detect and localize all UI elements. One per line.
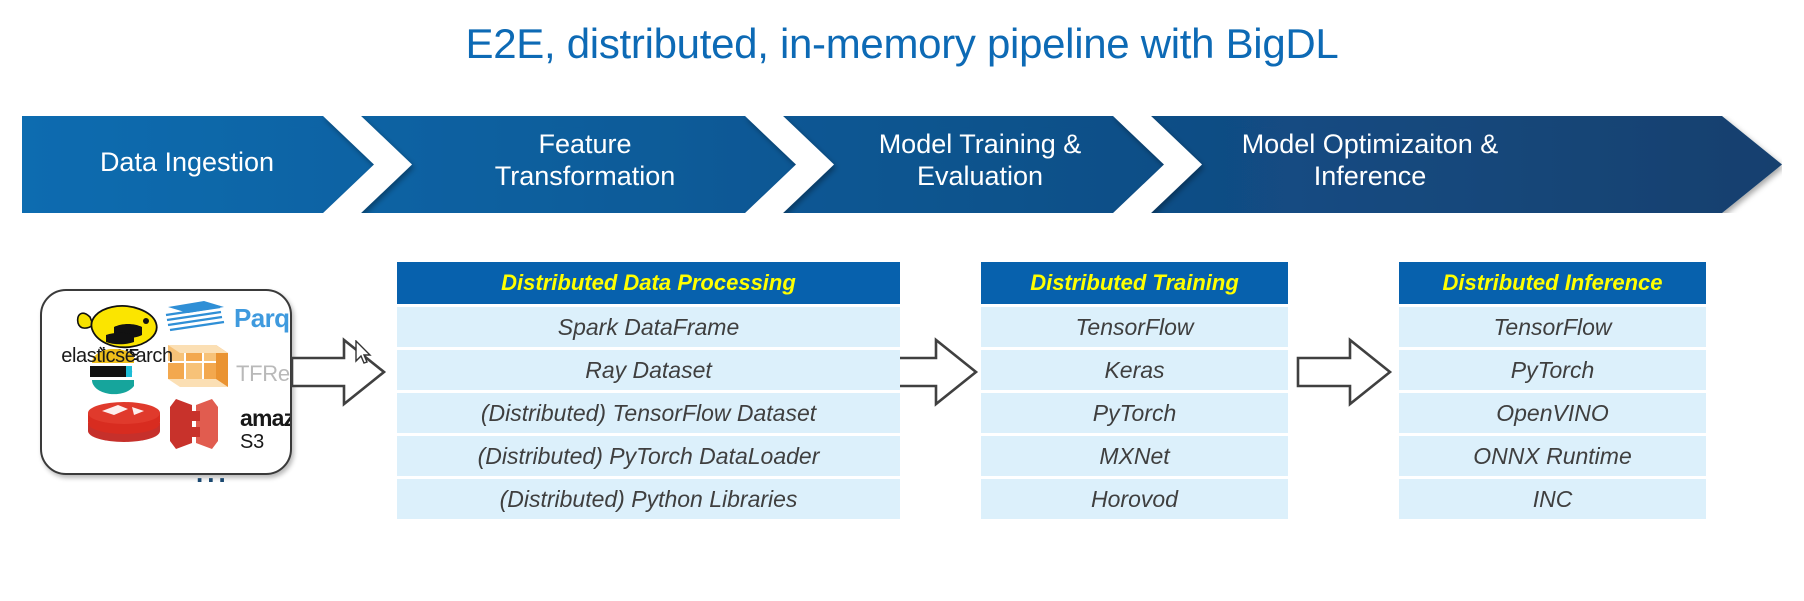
table-row[interactable]: Ray Dataset bbox=[397, 350, 900, 390]
table-row[interactable]: PyTorch bbox=[981, 393, 1288, 433]
table-row[interactable]: Horovod bbox=[981, 479, 1288, 519]
table-row[interactable]: MXNet bbox=[981, 436, 1288, 476]
parquet-logo: Parquet bbox=[164, 299, 288, 339]
connector-arrow-3 bbox=[1294, 332, 1394, 417]
tfrecord-logo-label: TFRecord bbox=[236, 361, 292, 387]
stage-label-model-training: Model Training & Evaluation bbox=[820, 128, 1140, 192]
table-row[interactable]: (Distributed) PyTorch DataLoader bbox=[397, 436, 900, 476]
amazon-logo-label: amazon bbox=[240, 407, 292, 430]
elasticsearch-logo-label: elasticsearch bbox=[42, 345, 192, 368]
table-row[interactable]: INC bbox=[1399, 479, 1706, 519]
more-sources-ellipsis: ... bbox=[196, 468, 230, 478]
page-title: E2E, distributed, in-memory pipeline wit… bbox=[0, 20, 1804, 68]
table-header: Distributed Inference bbox=[1399, 262, 1706, 304]
stage-label-data-ingestion: Data Ingestion bbox=[22, 146, 352, 178]
table-header: Distributed Data Processing bbox=[397, 262, 900, 304]
table-row[interactable]: Keras bbox=[981, 350, 1288, 390]
parquet-logo-label: Parquet bbox=[234, 303, 292, 334]
table-row[interactable]: OpenVINO bbox=[1399, 393, 1706, 433]
connector-arrow-1 bbox=[288, 332, 388, 417]
table-row[interactable]: (Distributed) TensorFlow Dataset bbox=[397, 393, 900, 433]
stage-label-feature-transformation: Feature Transformation bbox=[400, 128, 770, 192]
table-header: Distributed Training bbox=[981, 262, 1288, 304]
distributed-training-table: Distributed Training TensorFlow Keras Py… bbox=[981, 262, 1288, 519]
table-row[interactable]: ONNX Runtime bbox=[1399, 436, 1706, 476]
data-sources-card: HIVE Parquet bbox=[40, 289, 292, 475]
amazon-s3-logo: amazon S3 bbox=[162, 395, 292, 453]
stage-label-model-optimization: Model Optimizaiton & Inference bbox=[1190, 128, 1550, 192]
table-row[interactable]: TensorFlow bbox=[981, 307, 1288, 347]
table-row[interactable]: (Distributed) Python Libraries bbox=[397, 479, 900, 519]
slide-canvas: E2E, distributed, in-memory pipeline wit… bbox=[0, 0, 1804, 601]
amazon-s3-sub-label: S3 bbox=[240, 431, 264, 454]
distributed-data-processing-table: Distributed Data Processing Spark DataFr… bbox=[397, 262, 900, 519]
table-row[interactable]: Spark DataFrame bbox=[397, 307, 900, 347]
table-row[interactable]: TensorFlow bbox=[1399, 307, 1706, 347]
table-row[interactable]: PyTorch bbox=[1399, 350, 1706, 390]
mouse-pointer-icon bbox=[355, 340, 373, 371]
distributed-inference-table: Distributed Inference TensorFlow PyTorch… bbox=[1399, 262, 1706, 519]
